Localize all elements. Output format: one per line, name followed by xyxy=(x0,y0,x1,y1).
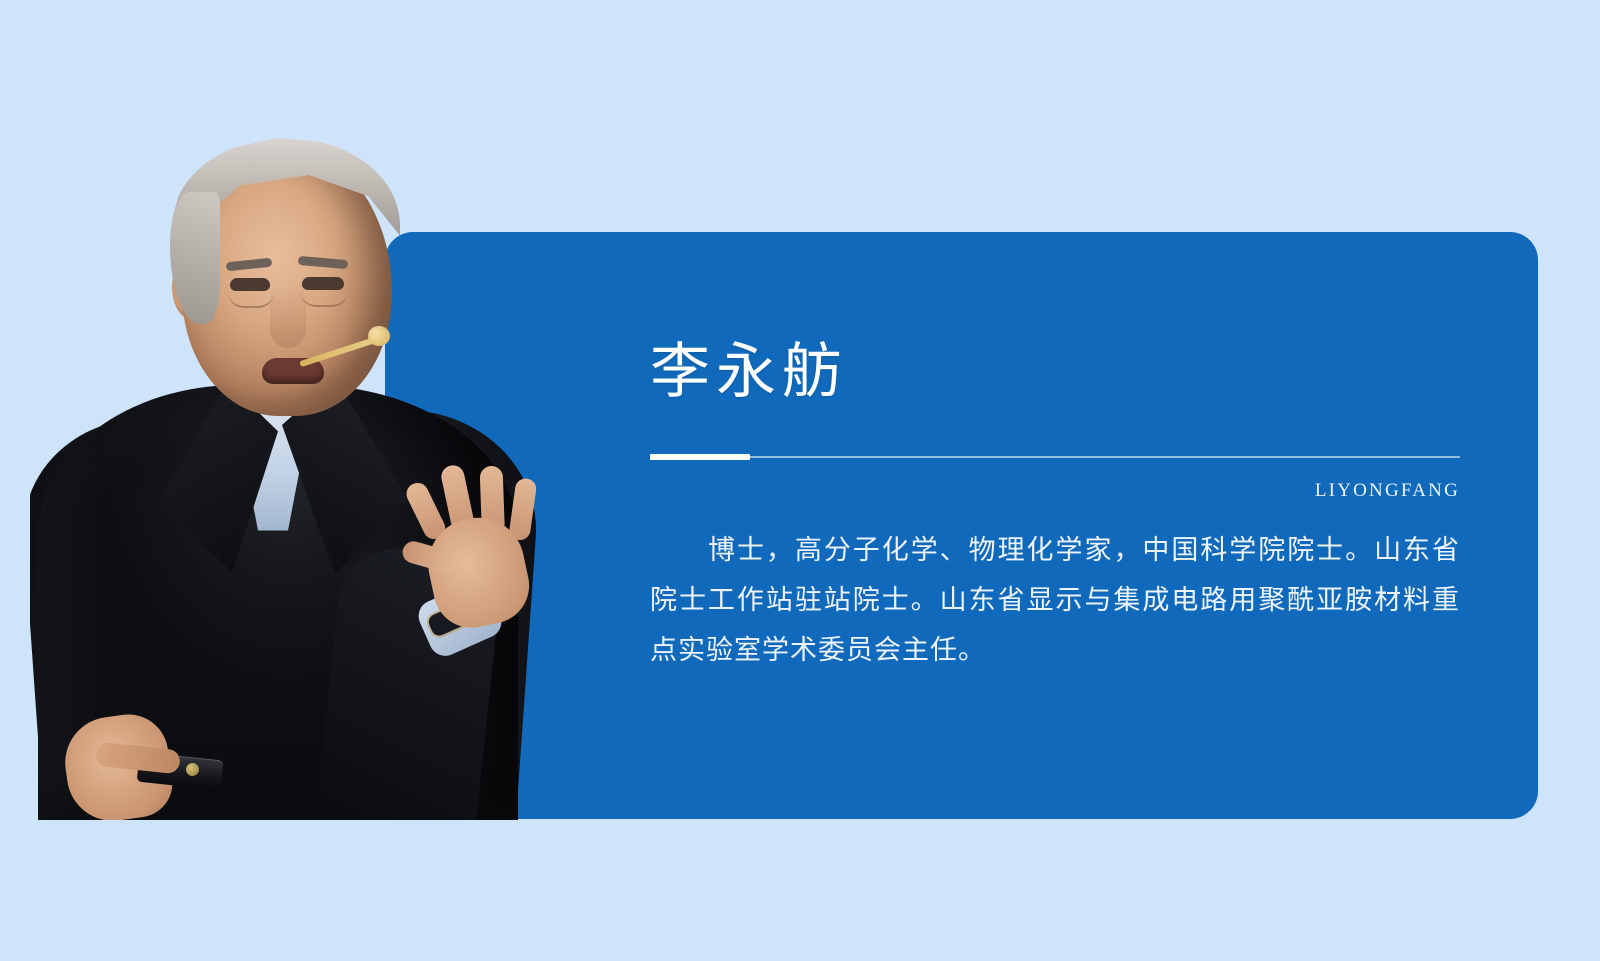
profile-card-slide: 李永舫 LIYONGFANG 博士，高分子化学、物理化学家，中国科学院院士。山东… xyxy=(0,0,1600,961)
eye-right xyxy=(302,277,344,290)
headset-microphone-capsule xyxy=(368,326,390,346)
pinyin-subtitle: LIYONGFANG xyxy=(650,480,1460,502)
nose xyxy=(270,286,306,348)
biography-text: 博士，高分子化学、物理化学家，中国科学院院士。山东省院士工作站驻站院士。山东省显… xyxy=(650,525,1460,675)
divider-rule xyxy=(650,456,1460,458)
portrait-photo xyxy=(30,120,550,820)
card-content: 李永舫 LIYONGFANG 博士，高分子化学、物理化学家，中国科学院院士。山东… xyxy=(650,232,1460,819)
photo-bottom-edge xyxy=(30,818,550,820)
divider-accent-stub xyxy=(650,454,750,460)
page-title: 李永舫 xyxy=(650,340,848,404)
info-card: 李永舫 LIYONGFANG 博士，高分子化学、物理化学家，中国科学院院士。山东… xyxy=(385,232,1538,819)
title-divider xyxy=(650,454,1460,460)
eye-left xyxy=(230,278,270,291)
